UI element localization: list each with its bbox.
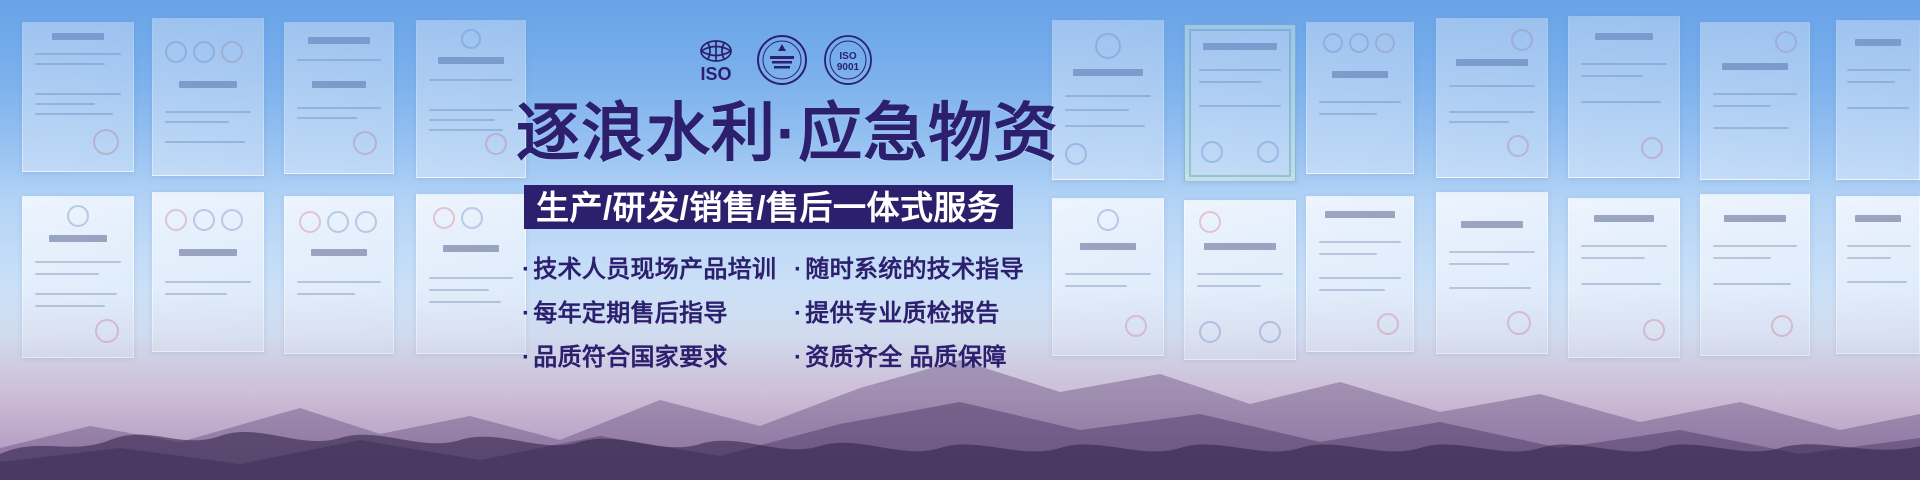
feature-label: 品质符合国家要求 (533, 344, 727, 371)
feature-label: 资质齐全 品质保障 (805, 344, 1006, 371)
certificate-thumb (284, 22, 394, 174)
svg-text:ISO: ISO (700, 64, 731, 84)
certification-badges: ISO ISO 9001 (690, 32, 880, 88)
subtitle-band: 生产/研发/销售/售后一体式服务 (524, 185, 1013, 229)
iso-badge-icon: ISO (690, 34, 742, 86)
feature-item: ·随时系统的技术指导 (794, 249, 1054, 284)
feature-label: 提供专业质检报告 (805, 300, 999, 327)
certificate-thumb (1436, 18, 1548, 178)
page-title: 逐浪水利·应急物资 (516, 100, 1076, 167)
feature-label: 随时系统的技术指导 (805, 256, 1024, 283)
certificate-thumb (416, 20, 526, 178)
certificate-thumb (1700, 22, 1810, 180)
subtitle-text: 生产/研发/销售/售后一体式服务 (536, 191, 1001, 224)
ccc-badge-icon (756, 34, 808, 86)
bullet-dot: · (794, 344, 802, 371)
svg-text:ISO: ISO (839, 51, 856, 62)
svg-text:9001: 9001 (837, 62, 860, 73)
bullet-dot: · (522, 344, 530, 371)
bullet-dot: · (522, 300, 530, 327)
certificate-thumb (1568, 16, 1680, 178)
bullet-dot: · (794, 256, 802, 283)
feature-item: ·技术人员现场产品培训 (522, 249, 794, 284)
feature-item: ·每年定期售后指导 (522, 293, 794, 328)
feature-item: ·资质齐全 品质保障 (794, 337, 1054, 372)
certificate-thumb (1184, 24, 1296, 182)
feature-item: ·提供专业质检报告 (794, 293, 1054, 328)
bullet-dot: · (522, 256, 530, 283)
certificate-thumb (1306, 196, 1414, 352)
feature-label: 技术人员现场产品培训 (533, 256, 776, 283)
feature-list: ·技术人员现场产品培训 ·随时系统的技术指导 ·每年定期售后指导 ·提供专业质检… (522, 244, 1082, 376)
feature-item: ·品质符合国家要求 (522, 337, 794, 372)
certificate-thumb (22, 22, 134, 172)
certificate-thumb (1836, 20, 1920, 180)
certificate-thumb (1306, 22, 1414, 174)
promo-banner: ISO ISO 9001 逐浪水利·应急物资 生产/研发/销售/售后一体式服务 … (0, 0, 1920, 480)
certificate-thumb (152, 18, 264, 176)
certificate-thumb (152, 192, 264, 352)
bullet-dot: · (794, 300, 802, 327)
feature-label: 每年定期售后指导 (533, 300, 727, 327)
iso9001-badge-icon: ISO 9001 (822, 34, 874, 86)
treeline-silhouette (0, 410, 1920, 480)
